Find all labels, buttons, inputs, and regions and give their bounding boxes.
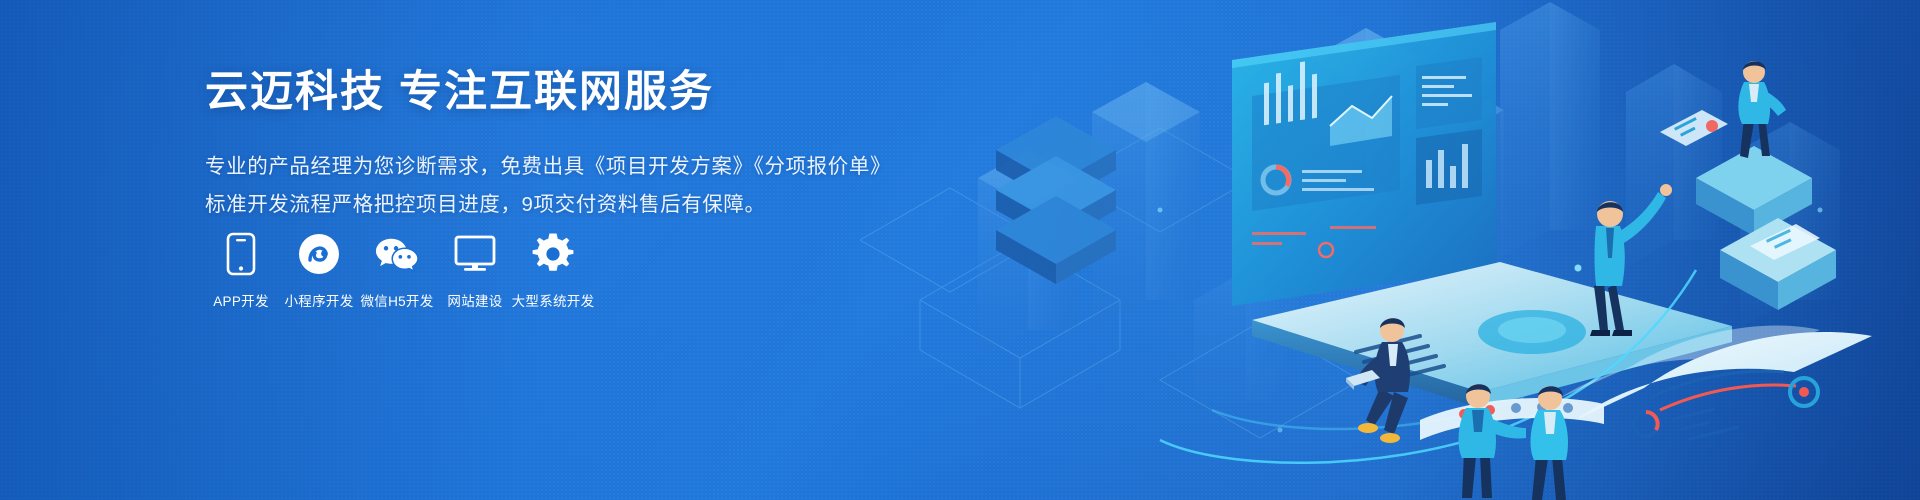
service-item-wechat-h5[interactable]: 微信H5开发	[358, 232, 436, 310]
mini-program-icon	[297, 232, 341, 276]
hero-banner: 云迈科技 专注互联网服务 专业的产品经理为您诊断需求，免费出具《项目开发方案》《…	[0, 0, 1920, 500]
page-title: 云迈科技 专注互联网服务	[205, 68, 965, 117]
service-label: APP开发	[213, 290, 269, 310]
monitor-icon	[453, 232, 497, 276]
service-list: APP开发 小程序开发	[202, 232, 592, 310]
server-stack	[996, 116, 1116, 284]
wechat-icon	[375, 232, 419, 276]
gear-icon	[531, 232, 575, 276]
service-item-website[interactable]: 网站建设	[436, 232, 514, 310]
service-label: 网站建设	[447, 290, 502, 310]
service-item-miniprogram[interactable]: 小程序开发	[280, 232, 358, 310]
isometric-illustration	[860, 0, 1920, 500]
service-item-app[interactable]: APP开发	[202, 232, 280, 310]
service-item-large-system[interactable]: 大型系统开发	[514, 232, 592, 310]
service-label: 大型系统开发	[512, 290, 595, 310]
hero-copy: 云迈科技 专注互联网服务 专业的产品经理为您诊断需求，免费出具《项目开发方案》《…	[205, 68, 965, 221]
subtitle-line-1: 专业的产品经理为您诊断需求，免费出具《项目开发方案》《分项报价单》	[205, 150, 965, 183]
subtitle-line-2: 标准开发流程严格把控项目进度，9项交付资料售后有保障。	[205, 188, 965, 221]
dashboard-screen	[1230, 22, 1500, 306]
service-label: 微信H5开发	[360, 290, 433, 310]
mobile-phone-icon	[219, 232, 263, 276]
service-label: 小程序开发	[285, 290, 354, 310]
